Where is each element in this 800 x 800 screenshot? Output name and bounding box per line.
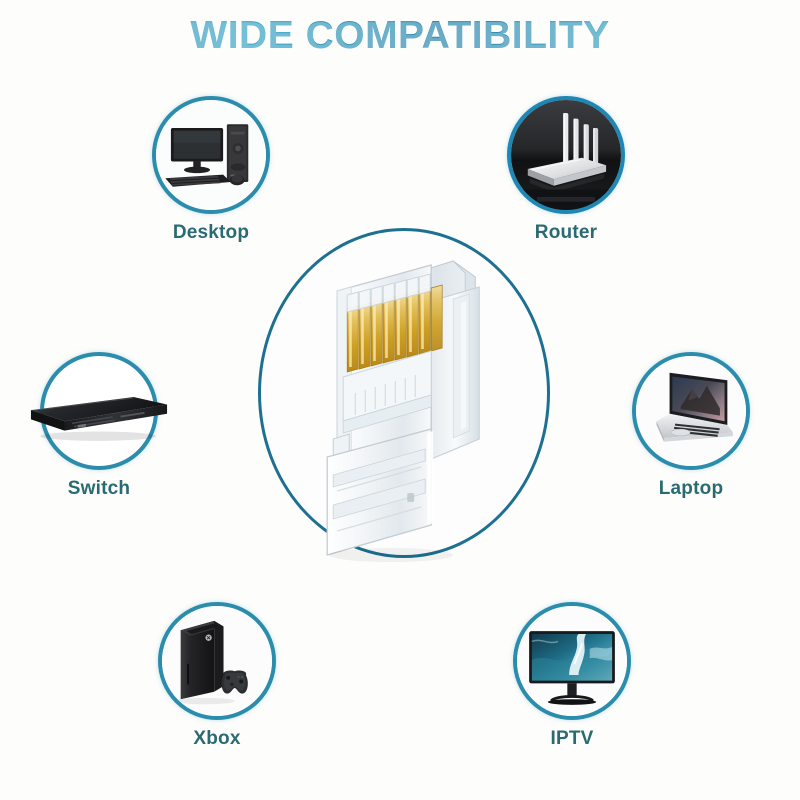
device-label-router: Router — [471, 222, 661, 244]
rj45-connector-icon — [303, 243, 513, 563]
device-node-laptop[interactable]: Laptop — [632, 352, 750, 470]
device-label-desktop: Desktop — [116, 222, 306, 244]
device-node-switch[interactable]: Switch — [40, 352, 158, 470]
laptop-icon — [636, 356, 746, 466]
device-node-xbox[interactable]: Xbox — [158, 602, 276, 720]
device-circle-laptop — [632, 352, 750, 470]
desktop-computer-icon — [156, 100, 266, 210]
device-node-desktop[interactable]: Desktop — [152, 96, 270, 214]
page-title: WIDE COMPATIBILITY — [0, 14, 800, 58]
device-label-switch: Switch — [4, 478, 194, 500]
device-circle-xbox — [158, 602, 276, 720]
device-circle-iptv — [513, 602, 631, 720]
device-label-iptv: IPTV — [477, 728, 667, 750]
television-icon — [517, 606, 627, 716]
device-circle-desktop — [152, 96, 270, 214]
device-circle-router — [507, 96, 625, 214]
game-console-icon — [162, 606, 272, 716]
device-node-iptv[interactable]: IPTV — [513, 602, 631, 720]
device-circle-switch — [40, 352, 158, 470]
wifi-router-icon — [511, 100, 621, 210]
device-label-laptop: Laptop — [596, 478, 786, 500]
center-product-circle — [258, 228, 550, 558]
device-label-xbox: Xbox — [122, 728, 312, 750]
device-node-router[interactable]: Router — [507, 96, 625, 214]
network-switch-icon — [22, 356, 176, 466]
